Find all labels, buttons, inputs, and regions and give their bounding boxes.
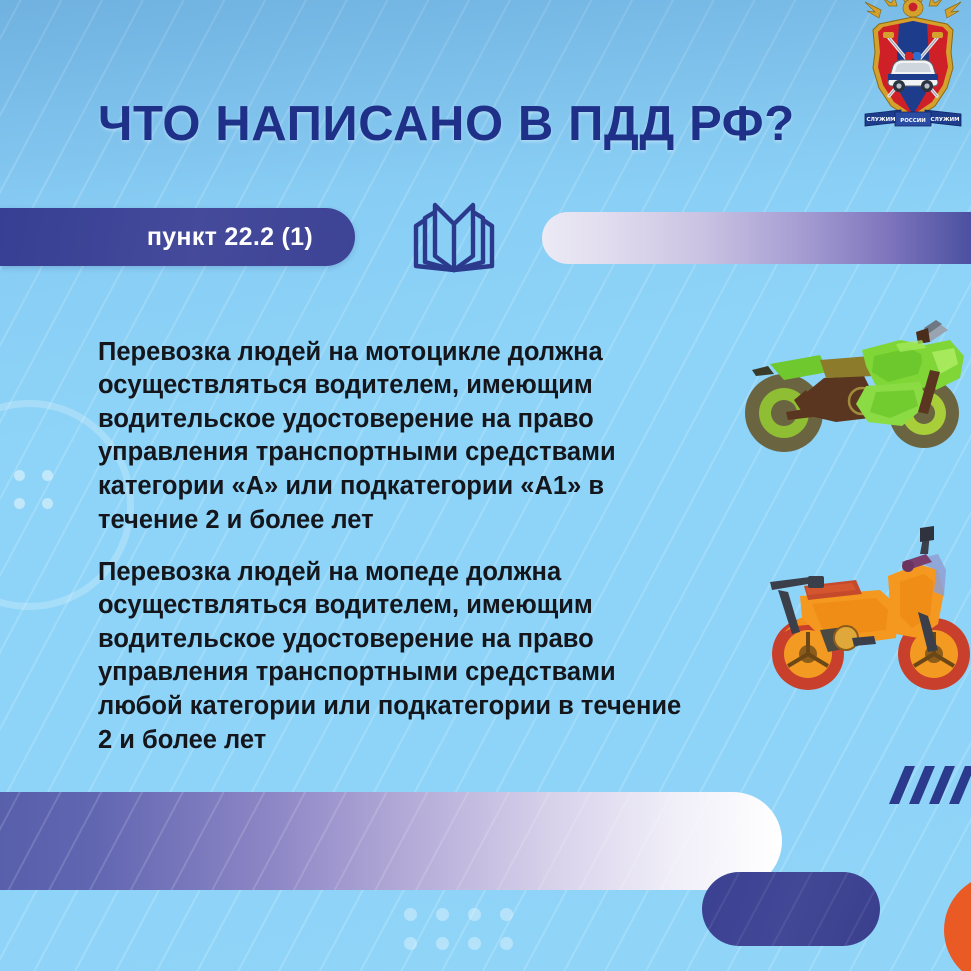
top-gradient-overlay — [0, 0, 971, 190]
dot — [42, 470, 53, 481]
dot — [468, 937, 481, 950]
dot — [500, 908, 513, 921]
dot — [14, 498, 25, 509]
moped-illustration — [748, 520, 971, 700]
rule-text-bold: категории «А» или подкатегории «А1» в те… — [98, 472, 604, 534]
dot — [14, 470, 25, 481]
rule-text-bold: любой категории или подкатегории в течен… — [98, 692, 681, 754]
svg-text:РОССИИ: РОССИИ — [900, 118, 926, 124]
rule-text-normal: Перевозка людей на мопеде должна осущест… — [98, 558, 616, 687]
decorative-orange-circle — [944, 874, 971, 971]
dot — [404, 908, 417, 921]
open-book-icon — [404, 198, 504, 278]
svg-text:СЛУЖИМ: СЛУЖИМ — [930, 117, 959, 123]
dot — [436, 908, 449, 921]
dot — [468, 908, 481, 921]
poster-canvas: СЛУЖИМ РОССИИ СЛУЖИМ ЧТО НАПИСАНО В ПДД … — [0, 0, 971, 971]
decorative-dot-cluster — [14, 470, 60, 516]
decorative-dot-grid — [404, 908, 514, 954]
clause-badge-label: пункт 22.2 (1) — [147, 223, 313, 252]
dot — [42, 498, 53, 509]
badge-gradient-bar — [542, 212, 971, 264]
rule-text-normal: Перевозка людей на мотоцикле должна осущ… — [98, 338, 616, 467]
bottom-bar-texture — [0, 792, 782, 890]
dot — [436, 937, 449, 950]
bottom-gradient-bar — [0, 792, 782, 890]
rule-text-moped: Перевозка людей на мопеде должна осущест… — [98, 556, 698, 758]
clause-badge[interactable]: пункт 22.2 (1) — [0, 208, 355, 266]
dot — [404, 937, 417, 950]
motorcycle-illustration — [724, 300, 971, 470]
page-title: ЧТО НАПИСАНО В ПДД РФ? — [98, 99, 888, 150]
rule-text-motorcycle: Перевозка людей на мотоцикле должна осущ… — [98, 336, 698, 538]
dot — [500, 937, 513, 950]
decorative-navy-pill — [702, 872, 880, 946]
decorative-diagonal-stripes — [885, 766, 971, 804]
